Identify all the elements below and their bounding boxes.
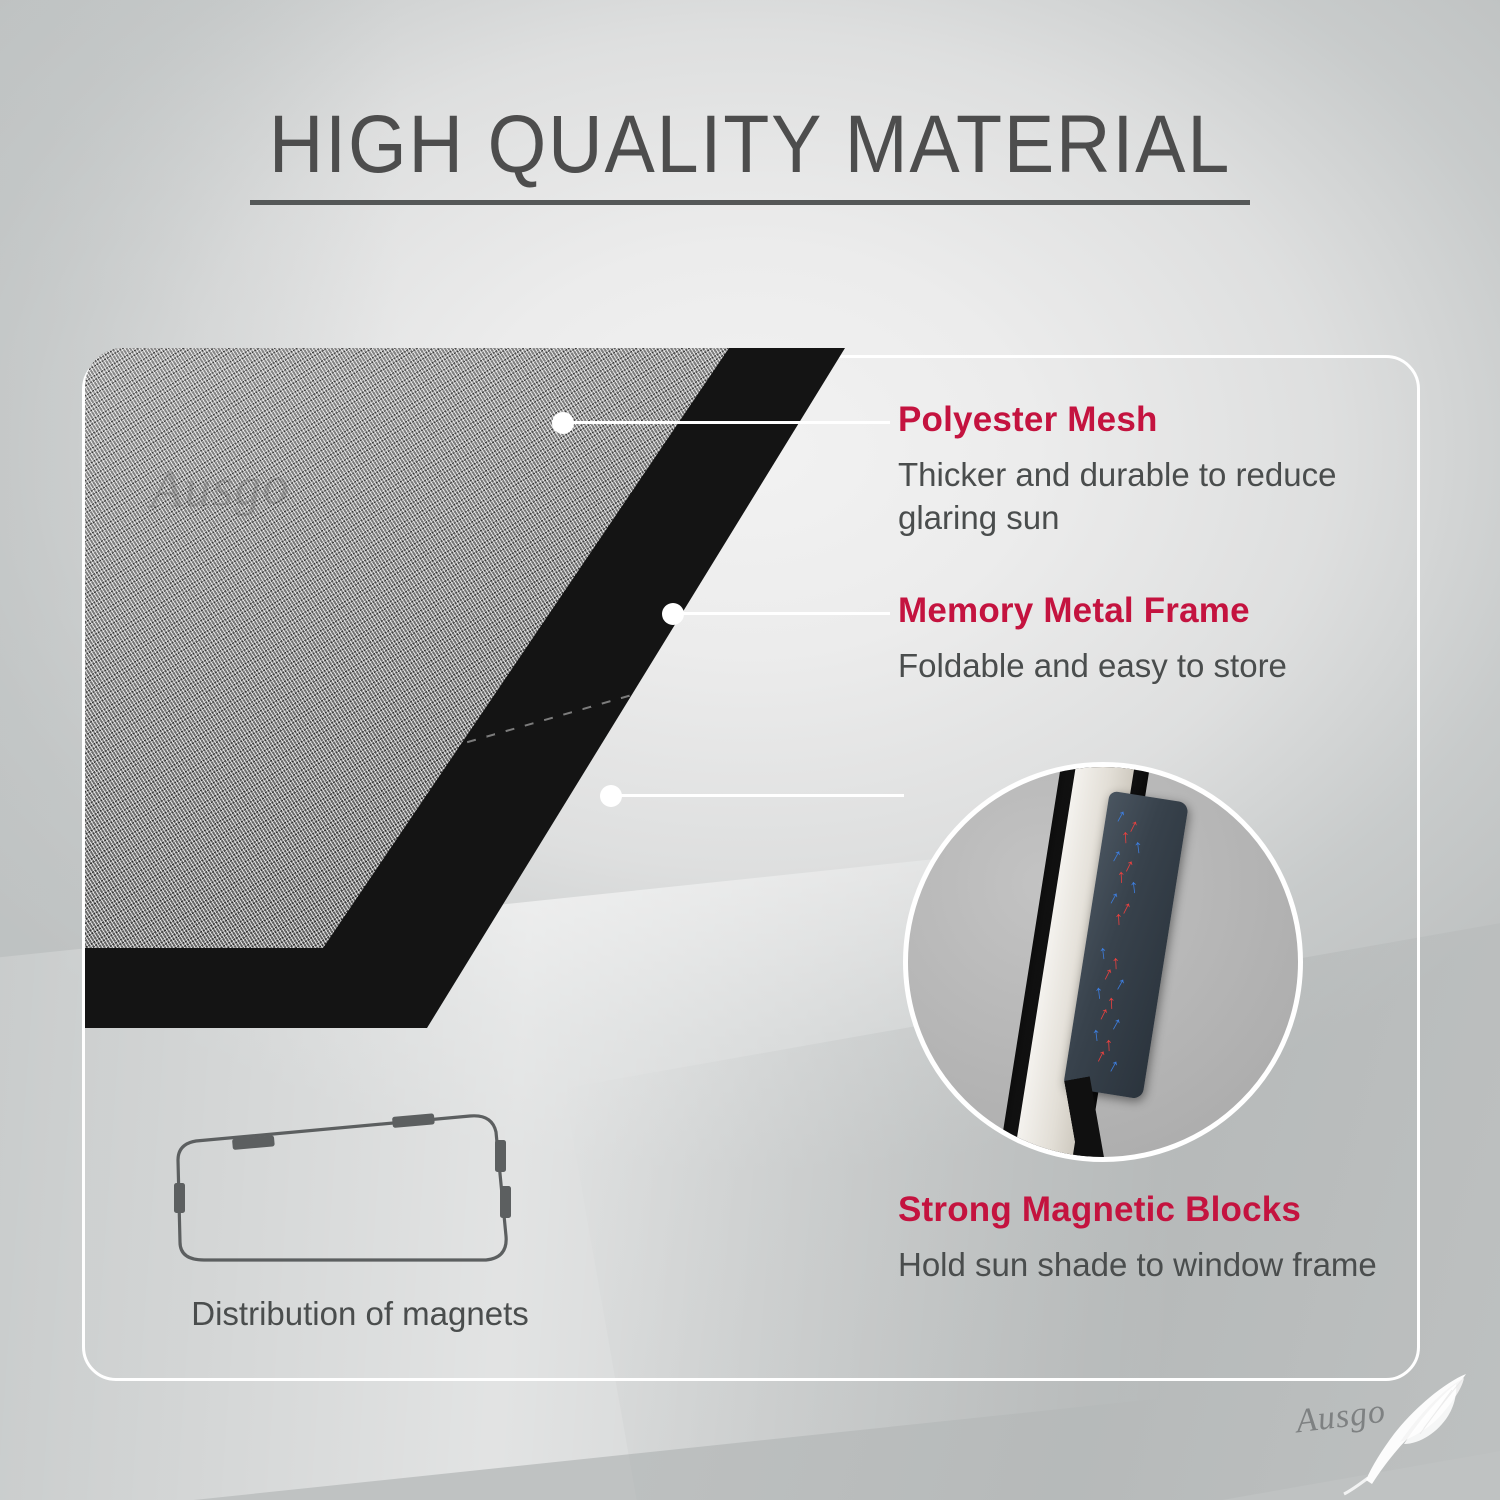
magnet-polarity-arrow: ↑ bbox=[1095, 1003, 1112, 1024]
callout-line-memory-metal-frame bbox=[676, 612, 890, 615]
feather-icon bbox=[1338, 1368, 1478, 1500]
side-note-line2: SUN SHADE bbox=[0, 960, 4, 1240]
infographic-canvas: HIGH QUALITY MATERIAL Ausgo Polyester Me… bbox=[0, 0, 1500, 1500]
magnet-distribution-caption: Distribution of magnets bbox=[120, 1295, 600, 1333]
feature-memory-metal-frame: Memory Metal Frame Foldable and easy to … bbox=[898, 591, 1418, 688]
feature-polyester-mesh: Polyester Mesh Thicker and durable to re… bbox=[898, 400, 1418, 540]
feature-body-memory-metal-frame: Foldable and easy to store bbox=[898, 645, 1418, 688]
magnet-polarity-arrow: ↑ bbox=[1105, 887, 1123, 908]
magnet-distribution-diagram bbox=[170, 1108, 530, 1288]
callout-line-magnetic-blocks bbox=[614, 794, 904, 797]
magnet-polarity-arrow: ↑ bbox=[1108, 845, 1126, 866]
magnet-closeup-circle: ↑↑↑↑↑↑↑↑↑↑↑↑↑↑↑↑↑↑↑↑↑↑↑ bbox=[903, 762, 1303, 1162]
magnet-polarity-arrow: ↑ bbox=[1113, 909, 1123, 928]
title-divider bbox=[250, 200, 1250, 205]
feature-strong-magnetic-blocks: Strong Magnetic Blocks Hold sun shade to… bbox=[898, 1190, 1418, 1287]
magnet-polarity-arrow: ↑ bbox=[1093, 983, 1105, 1003]
magnet-polarity-arrow: ↑ bbox=[1112, 805, 1130, 826]
feature-body-polyester-mesh: Thicker and durable to reduce glaring su… bbox=[898, 454, 1418, 540]
magnet-polarity-arrow: ↑ bbox=[1128, 877, 1140, 897]
side-product-note: AUSGO 4WD&ACCESSORIES SUN SHADE bbox=[0, 960, 4, 1240]
magnet-polarity-arrow: ↑ bbox=[1108, 1013, 1126, 1034]
magnet-polarity-arrow: ↑ bbox=[1093, 1045, 1110, 1066]
magnet-polarity-arrow: ↑ bbox=[1097, 943, 1109, 963]
magnet-block-left bbox=[174, 1183, 185, 1213]
page-title: HIGH QUALITY MATERIAL bbox=[60, 98, 1440, 192]
magnet-block-right-upper bbox=[495, 1140, 506, 1172]
magnet-polarity-arrow: ↑ bbox=[1132, 837, 1144, 857]
magnet-block-top-right bbox=[392, 1113, 435, 1128]
magnet-polarity-arrow: ↑ bbox=[1116, 867, 1126, 886]
feature-body-strong-magnetic-blocks: Hold sun shade to window frame bbox=[898, 1244, 1418, 1287]
feature-heading-memory-metal-frame: Memory Metal Frame bbox=[898, 591, 1418, 631]
window-outline-path bbox=[178, 1116, 506, 1260]
magnet-polarity-arrow: ↑ bbox=[1090, 1025, 1102, 1045]
magnet-block-right-lower bbox=[500, 1186, 511, 1218]
callout-line-polyester-mesh bbox=[566, 421, 890, 424]
feature-heading-strong-magnetic-blocks: Strong Magnetic Blocks bbox=[898, 1190, 1418, 1230]
product-photo bbox=[85, 348, 845, 1028]
magnet-polarity-arrow: ↑ bbox=[1120, 827, 1130, 846]
feature-heading-polyester-mesh: Polyester Mesh bbox=[898, 400, 1418, 440]
